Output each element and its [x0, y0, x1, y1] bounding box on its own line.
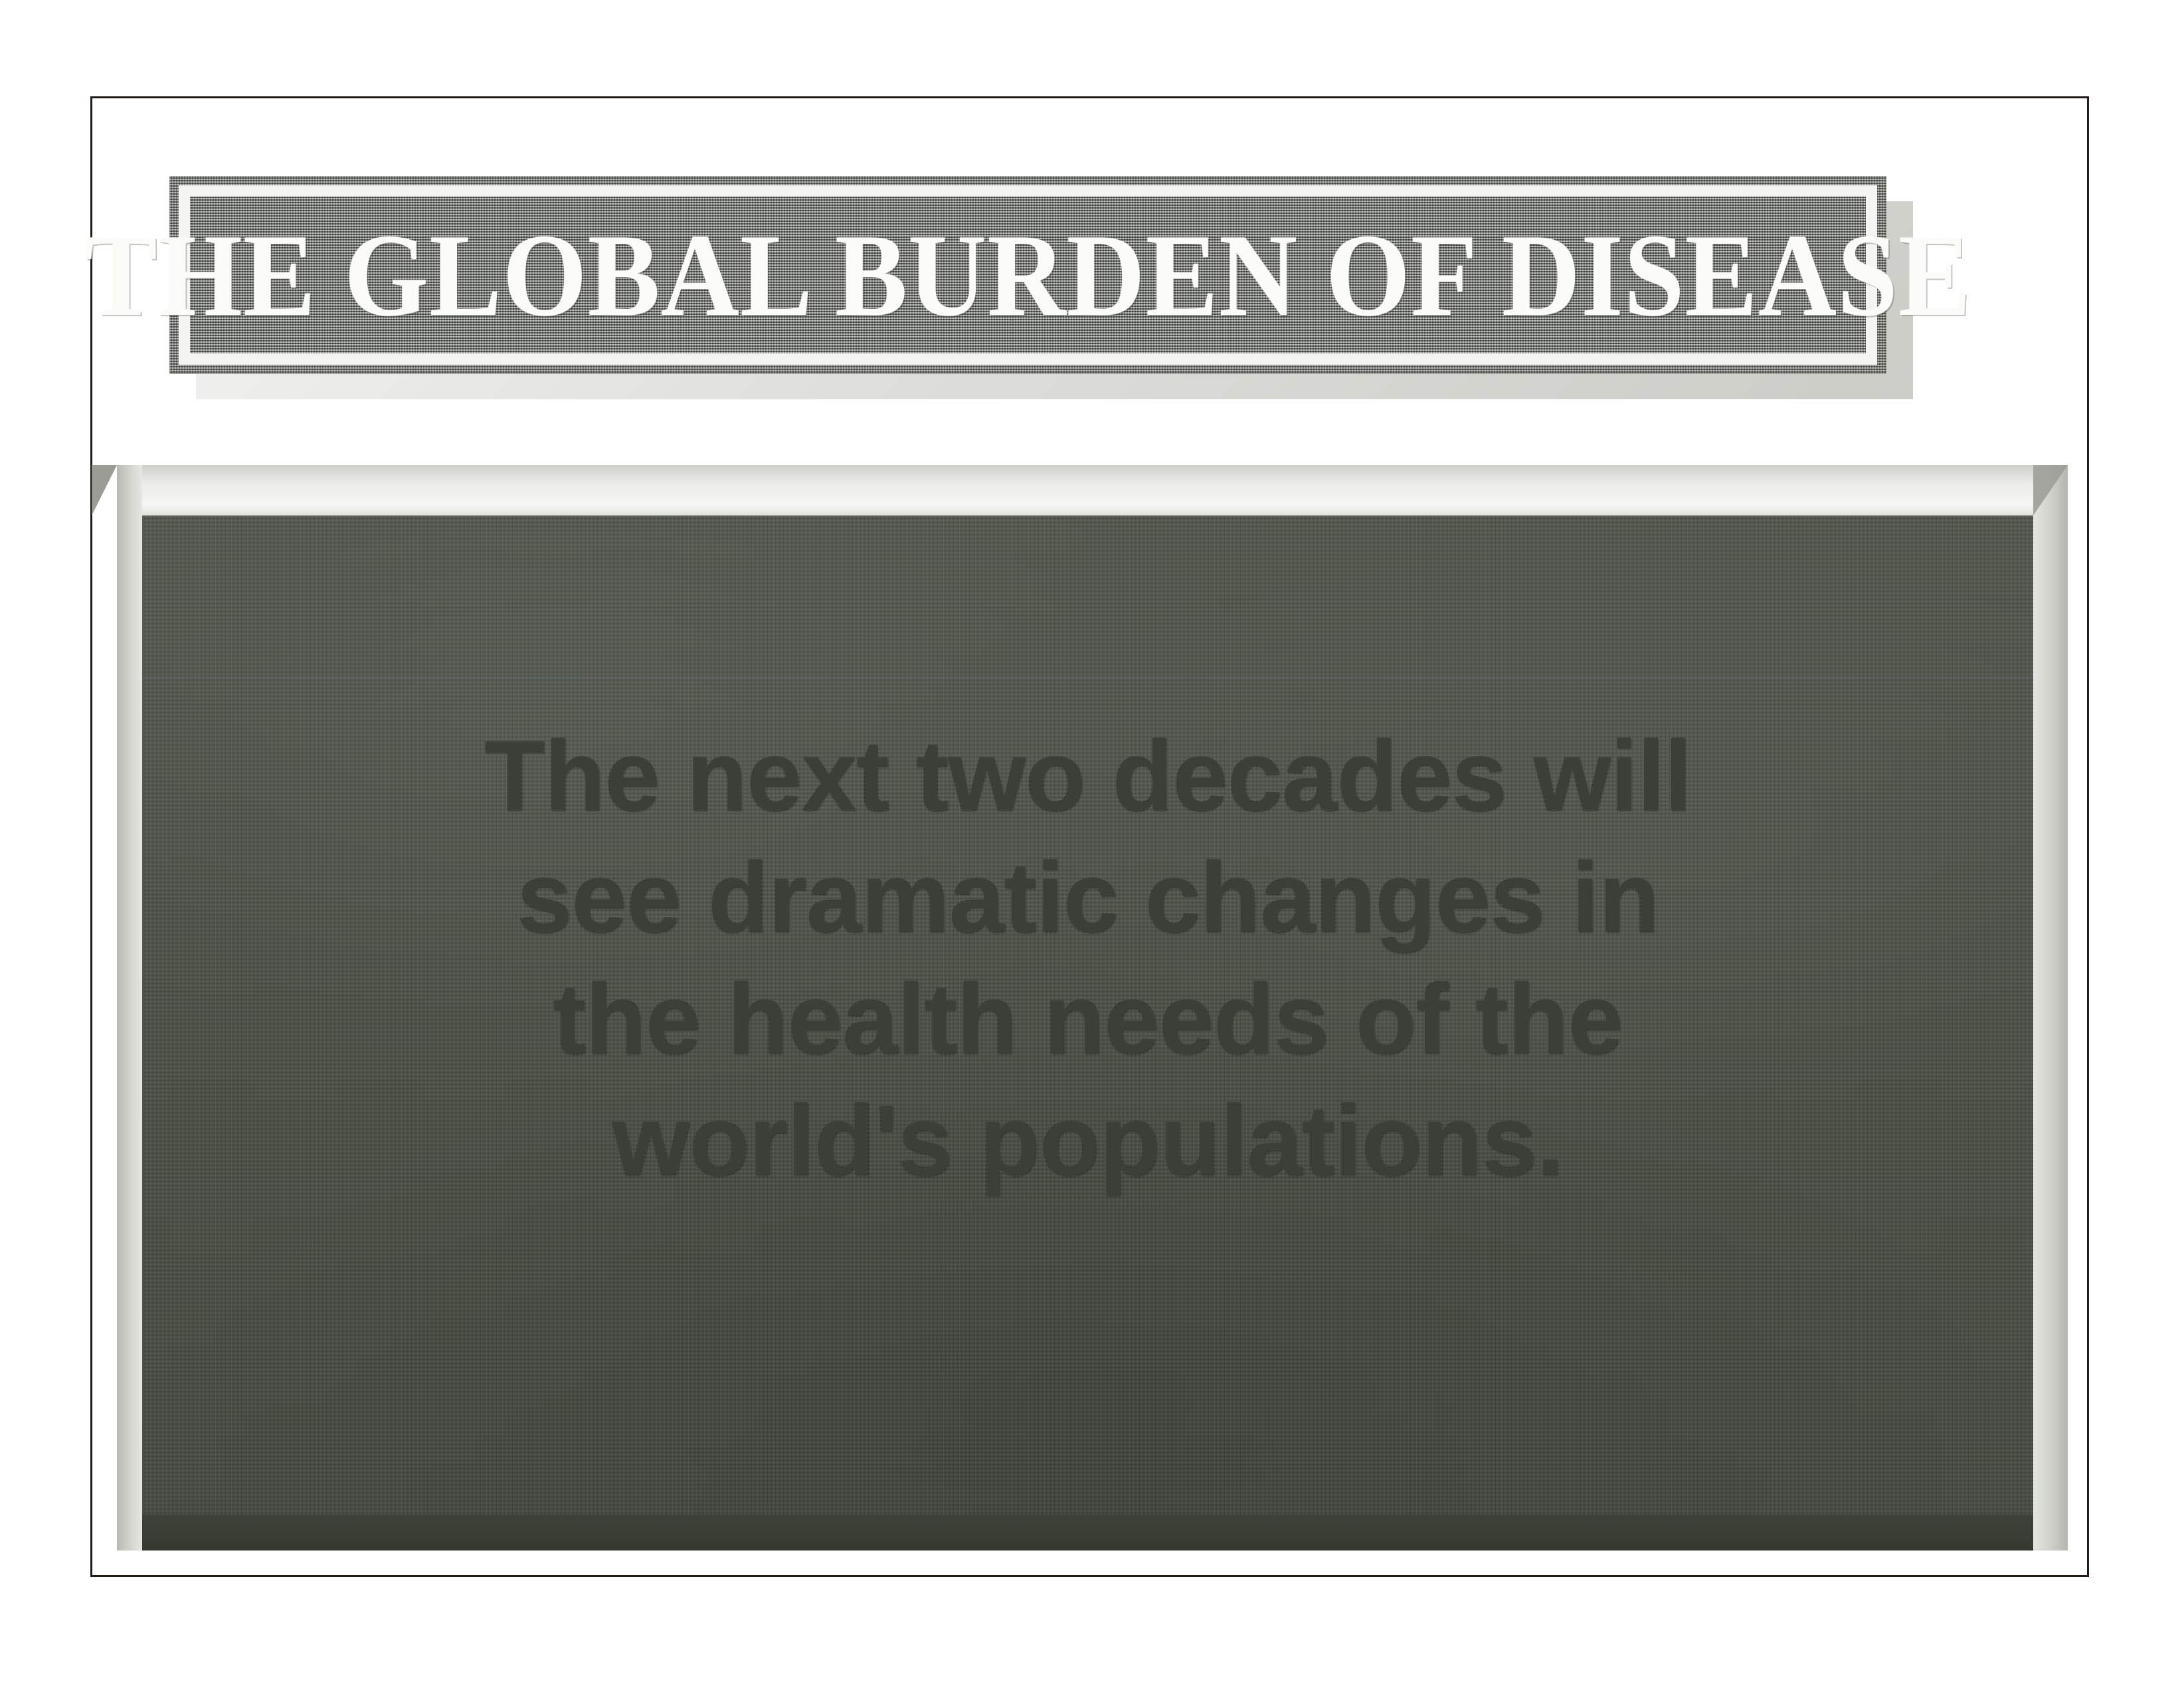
title-banner: THE GLOBAL BURDEN OF DISEASE [169, 176, 1886, 374]
slide-body-text: The next two decades will see dramatic c… [142, 715, 2033, 1201]
slide-body-line-4: world's populations. [142, 1080, 2033, 1201]
slide-bottom-bevel [142, 1515, 2033, 1551]
title-banner-frame: THE GLOBAL BURDEN OF DISEASE [169, 176, 1886, 374]
slide-body-line-1: The next two decades will [142, 715, 2033, 836]
scan-line-artifact [142, 676, 2033, 678]
title-banner-keyline: THE GLOBAL BURDEN OF DISEASE [179, 185, 1877, 365]
slide-page: THE GLOBAL BURDEN OF DISEASE The next tw… [0, 0, 2184, 1694]
slide-body-line-3: the health needs of the [142, 958, 2033, 1080]
slide-bevel-miter-top-left [92, 465, 117, 516]
slide-body-line-2: see dramatic changes in [142, 836, 2033, 958]
slide-panel: The next two decades will see dramatic c… [117, 465, 2068, 1551]
page-title: THE GLOBAL BURDEN OF DISEASE [84, 216, 1971, 334]
slide-screen: The next two decades will see dramatic c… [142, 516, 2033, 1551]
